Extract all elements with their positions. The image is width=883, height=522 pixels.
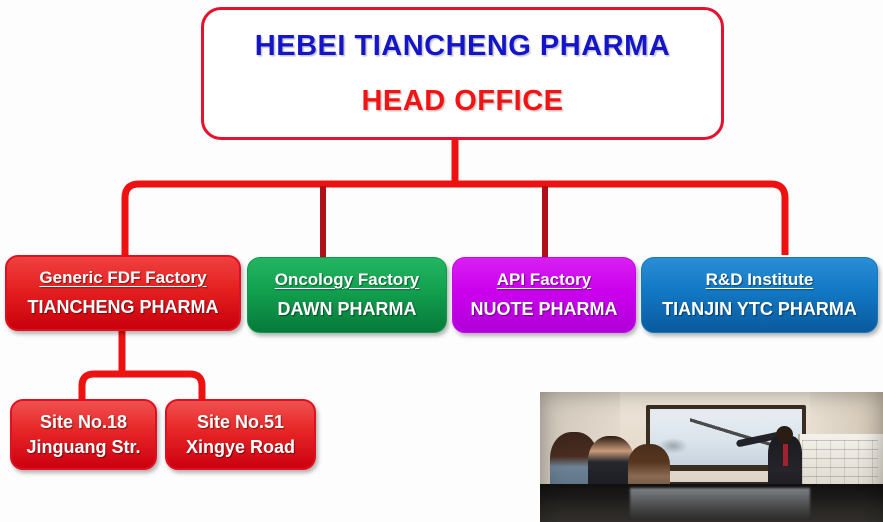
division-box-oncology-factory[interactable]: Oncology Factory DAWN PHARMA (247, 257, 447, 333)
division-box-generic-fdf-factory[interactable]: Generic FDF Factory TIANCHENG PHARMA (5, 255, 241, 331)
photo-vignette (540, 392, 883, 522)
division-title: Oncology Factory (275, 270, 420, 290)
meeting-room-photo (540, 392, 883, 522)
site-line-1: Site No.18 (40, 410, 127, 434)
division-title: Generic FDF Factory (39, 268, 206, 288)
division-title: API Factory (497, 270, 591, 290)
head-office-box[interactable]: HEBEI TIANCHENG PHARMA HEAD OFFICE (201, 7, 724, 140)
site-line-2: Xingye Road (186, 435, 295, 459)
division-subtitle: TIANJIN YTC PHARMA (662, 299, 857, 320)
division-box-api-factory[interactable]: API Factory NUOTE PHARMA (452, 257, 636, 333)
division-subtitle: NUOTE PHARMA (471, 299, 618, 320)
division-box-rd-institute[interactable]: R&D Institute TIANJIN YTC PHARMA (641, 257, 878, 333)
site-line-2: Jinguang Str. (26, 435, 140, 459)
connector-level1-bus (125, 184, 785, 255)
head-office-label: HEAD OFFICE (361, 85, 563, 118)
site-box-no-51[interactable]: Site No.51 Xingye Road (165, 399, 316, 470)
head-office-company-name: HEBEI TIANCHENG PHARMA (255, 30, 670, 63)
site-line-1: Site No.51 (197, 410, 284, 434)
division-title: R&D Institute (706, 270, 814, 290)
org-chart-canvas: HEBEI TIANCHENG PHARMA HEAD OFFICE Gener… (0, 0, 883, 522)
division-subtitle: DAWN PHARMA (278, 299, 417, 320)
division-subtitle: TIANCHENG PHARMA (28, 297, 219, 318)
connector-level2-bus (82, 374, 202, 399)
site-box-no-18[interactable]: Site No.18 Jinguang Str. (10, 399, 157, 470)
